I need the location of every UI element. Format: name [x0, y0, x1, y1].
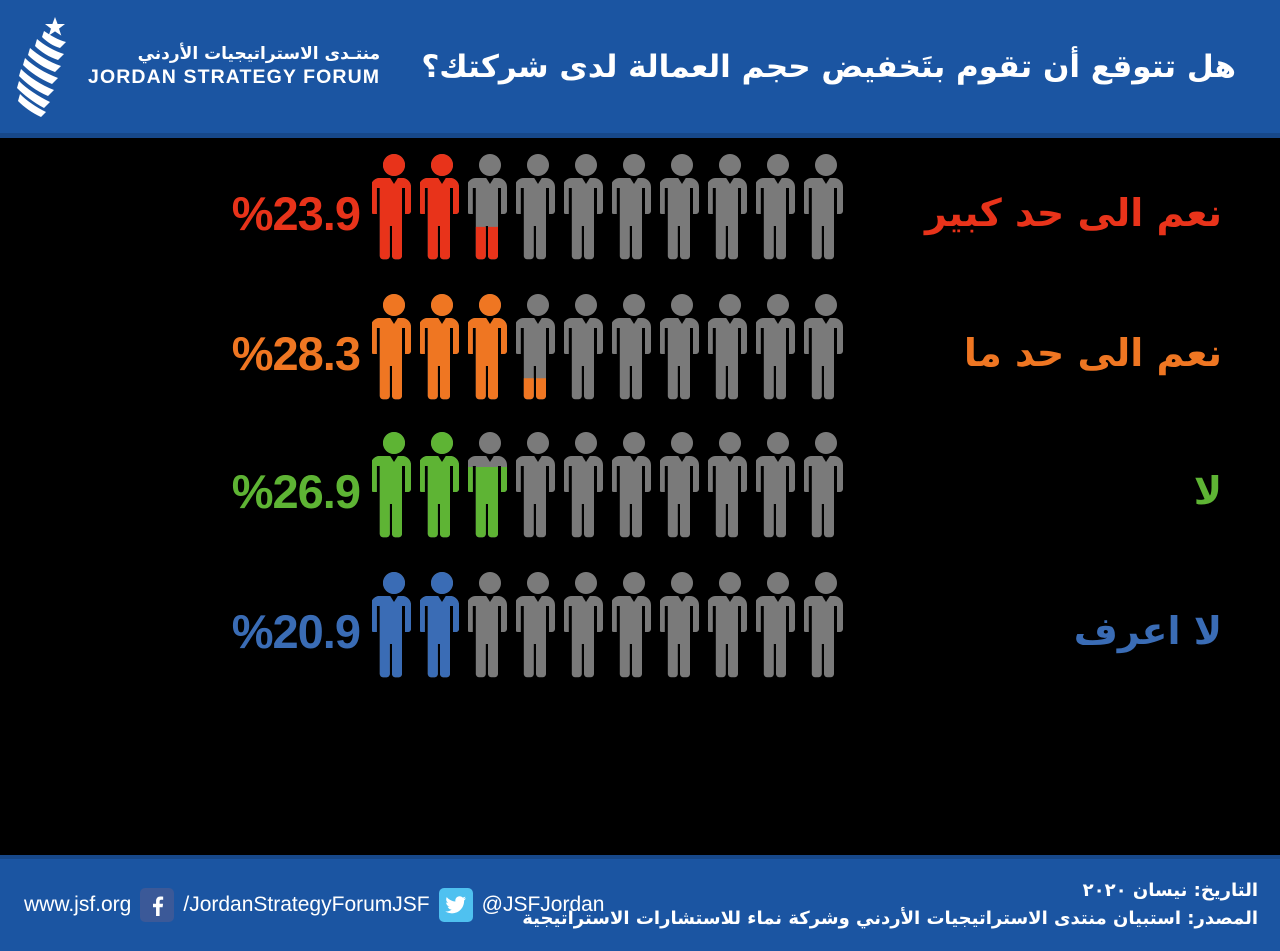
person-icon — [612, 150, 656, 276]
person-icon — [564, 568, 608, 694]
person-icon — [468, 568, 512, 694]
person-icon — [516, 428, 560, 554]
person-icon — [660, 428, 704, 554]
person-icon — [372, 150, 416, 276]
row-percentage: %26.9 — [150, 464, 360, 519]
person-icon — [420, 150, 464, 276]
footer-meta: التاريخ: نيسان ٢٠٢٠ المصدر: استبيان منتد… — [522, 877, 1258, 933]
row-figures — [372, 428, 854, 554]
infographic-page: منتـدى الاستراتيجيات الأردني JORDAN STRA… — [0, 0, 1280, 951]
person-icon — [612, 428, 656, 554]
person-icon — [756, 568, 800, 694]
person-icon — [756, 150, 800, 276]
person-icon — [372, 568, 416, 694]
facebook-icon[interactable] — [140, 888, 174, 922]
row-category-label: لا — [802, 469, 1222, 513]
brand-logo: منتـدى الاستراتيجيات الأردني JORDAN STRA… — [14, 15, 380, 119]
website-link[interactable]: www.jsf.org — [24, 893, 131, 917]
person-icon — [564, 290, 608, 416]
person-icon — [516, 290, 560, 416]
row-category-label: نعم الى حد ما — [802, 331, 1222, 375]
person-icon — [468, 290, 512, 416]
person-icon — [756, 290, 800, 416]
person-icon — [708, 428, 752, 554]
brand-name-en: JORDAN STRATEGY FORUM — [88, 66, 380, 88]
row-category-label: لا اعرف — [802, 609, 1222, 653]
person-icon — [708, 150, 752, 276]
brand-text: منتـدى الاستراتيجيات الأردني JORDAN STRA… — [88, 45, 380, 89]
header-bar: منتـدى الاستراتيجيات الأردني JORDAN STRA… — [0, 0, 1280, 138]
person-icon — [660, 568, 704, 694]
chart-row: %26.9لا — [0, 421, 1280, 561]
chart-row: %23.9نعم الى حد كبير — [0, 143, 1280, 283]
row-figures — [372, 568, 854, 694]
person-icon — [660, 150, 704, 276]
row-category-label: نعم الى حد كبير — [802, 191, 1222, 235]
row-percentage: %23.9 — [150, 186, 360, 241]
page-title: هل تتوقع أن تقوم بتَخفيض حجم العمالة لدى… — [421, 49, 1236, 85]
footer-source: المصدر: استبيان منتدى الاستراتيجيات الأر… — [522, 905, 1258, 933]
row-percentage: %28.3 — [150, 326, 360, 381]
row-figures — [372, 150, 854, 276]
person-icon — [708, 568, 752, 694]
person-icon — [420, 290, 464, 416]
person-icon — [372, 428, 416, 554]
person-icon — [516, 150, 560, 276]
person-icon — [372, 290, 416, 416]
person-icon — [612, 568, 656, 694]
chart-row: %28.3نعم الى حد ما — [0, 283, 1280, 423]
person-icon — [708, 290, 752, 416]
brand-name-ar: منتـدى الاستراتيجيات الأردني — [88, 45, 380, 65]
person-icon — [468, 150, 512, 276]
jsf-flame-logo-icon — [14, 15, 78, 119]
person-icon — [756, 428, 800, 554]
chart-row: %20.9لا اعرف — [0, 561, 1280, 701]
person-icon — [660, 290, 704, 416]
footer-social-links: www.jsf.org /JordanStrategyForumJSF @JSF… — [24, 888, 605, 922]
person-icon — [420, 568, 464, 694]
person-icon — [468, 428, 512, 554]
person-icon — [516, 568, 560, 694]
facebook-handle[interactable]: /JordanStrategyForumJSF — [183, 893, 429, 917]
person-icon — [420, 428, 464, 554]
twitter-icon[interactable] — [439, 888, 473, 922]
person-icon — [564, 428, 608, 554]
person-icon — [612, 290, 656, 416]
pictogram-chart: %23.9نعم الى حد كبير%28.3نعم الى حد ما%2… — [0, 143, 1280, 855]
footer-bar: www.jsf.org /JordanStrategyForumJSF @JSF… — [0, 855, 1280, 951]
person-icon — [564, 150, 608, 276]
footer-date: التاريخ: نيسان ٢٠٢٠ — [522, 877, 1258, 905]
row-figures — [372, 290, 854, 416]
row-percentage: %20.9 — [150, 604, 360, 659]
